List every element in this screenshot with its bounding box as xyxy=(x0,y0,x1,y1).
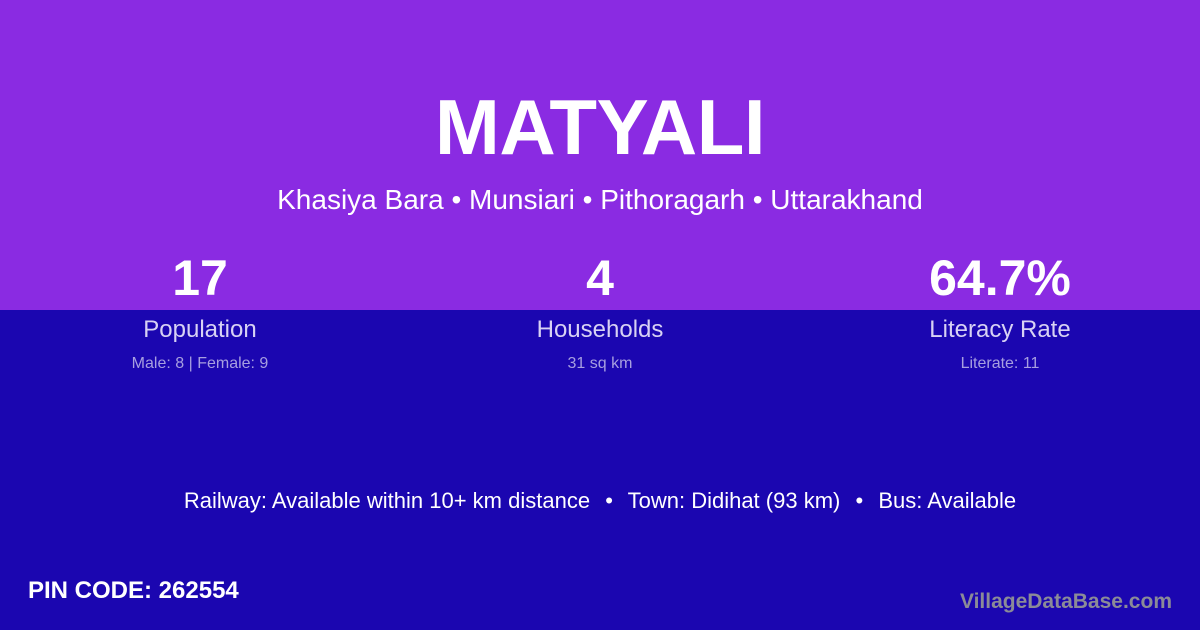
stat-population-sublabel: Male: 8 | Female: 9 xyxy=(0,353,400,375)
stat-population-value: 17 xyxy=(0,248,400,308)
stat-literacy-rate-label: Literacy Rate xyxy=(800,314,1200,346)
infra-separator-2: • xyxy=(846,486,872,516)
infra-bus: Bus: Available xyxy=(878,488,1016,513)
page-title: MATYALI xyxy=(0,79,1200,175)
village-info-card: MATYALI Khasiya Bara • Munsiari • Pithor… xyxy=(0,0,1200,630)
stat-population: 17 Population Male: 8 | Female: 9 xyxy=(0,248,400,375)
infra-town: Town: Didihat (93 km) xyxy=(628,488,841,513)
infrastructure-summary: Railway: Available within 10+ km distanc… xyxy=(0,486,1200,516)
stat-literacy-rate-value: 64.7% xyxy=(800,248,1200,308)
stat-households-value: 4 xyxy=(400,248,800,308)
infra-railway: Railway: Available within 10+ km distanc… xyxy=(184,488,590,513)
stat-literacy-rate-sublabel: Literate: 11 xyxy=(800,353,1200,375)
stat-households-label: Households xyxy=(400,314,800,346)
pin-code: PIN CODE: 262554 xyxy=(28,575,239,607)
site-watermark: VillageDataBase.com xyxy=(960,588,1172,616)
stat-literacy-rate: 64.7% Literacy Rate Literate: 11 xyxy=(800,248,1200,375)
stats-row: 17 Population Male: 8 | Female: 9 4 Hous… xyxy=(0,248,1200,375)
stat-households: 4 Households 31 sq km xyxy=(400,248,800,375)
stat-households-sublabel: 31 sq km xyxy=(400,353,800,375)
breadcrumb: Khasiya Bara • Munsiari • Pithoragarh • … xyxy=(0,182,1200,218)
stat-population-label: Population xyxy=(0,314,400,346)
infra-separator-1: • xyxy=(596,486,622,516)
